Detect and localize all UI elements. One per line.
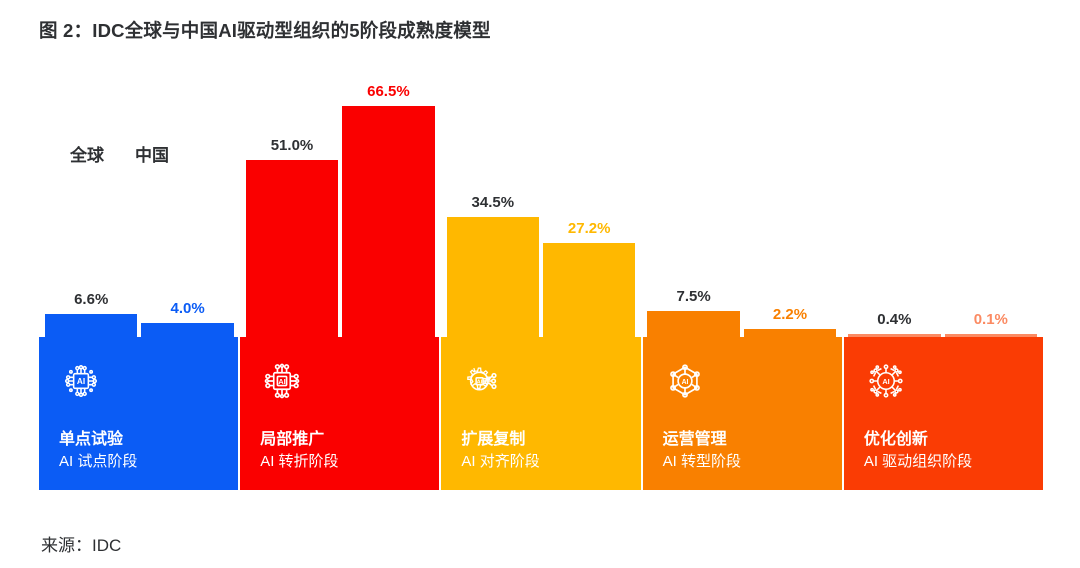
bar-slot-global: 7.5% <box>647 60 739 337</box>
stage-title: 运营管理 <box>663 425 727 449</box>
ai-hexagon-network-icon: AI <box>663 359 707 403</box>
bar-slot-china: 4.0% <box>141 60 233 337</box>
bar-slot-global: 6.6% <box>45 60 137 337</box>
stage-cell-2[interactable]: AI 局部推广AI 转折阶段 <box>238 337 439 490</box>
bar-value-label-global: 7.5% <box>676 289 710 311</box>
stage-band: AI 单点试验AI 试点阶段 AI 局部推广AI 转折阶段 AI <box>39 337 1043 490</box>
bar-value-label-global: 6.6% <box>74 292 108 314</box>
bar-group: 51.0%66.5% <box>240 60 441 337</box>
ai-chip-dots-icon: AI <box>59 359 103 403</box>
source-note: 来源：IDC <box>41 531 121 556</box>
bar-value-label-china: 66.5% <box>367 84 410 106</box>
stage-title: 优化创新 <box>864 425 928 449</box>
bar-slot-global: 0.4% <box>848 60 940 337</box>
ai-chip-circuit-icon: AI <box>260 359 304 403</box>
bar-slot-china: 66.5% <box>342 60 434 337</box>
stage-subtitle: AI 试点阶段 <box>59 450 137 471</box>
bar-china[interactable] <box>141 323 233 337</box>
stage-cell-4[interactable]: AI 运营管理AI 转型阶段 <box>641 337 842 490</box>
ai-circular-circuit-icon: AI <box>864 359 908 403</box>
bar-value-label-china: 2.2% <box>773 307 807 329</box>
bar-global[interactable] <box>447 217 539 337</box>
bar-china[interactable] <box>744 329 836 337</box>
bar-group: 6.6%4.0% <box>39 60 240 337</box>
bar-global[interactable] <box>45 314 137 337</box>
bar-slot-china: 27.2% <box>543 60 635 337</box>
svg-text:AI: AI <box>279 377 286 386</box>
svg-text:AI: AI <box>882 377 889 386</box>
stage-cell-1[interactable]: AI 单点试验AI 试点阶段 <box>39 337 238 490</box>
bar-global[interactable] <box>647 311 739 337</box>
ai-gear-chip-icon: AI <box>461 359 505 403</box>
bar-global[interactable] <box>246 160 338 337</box>
stage-subtitle: AI 驱动组织阶段 <box>864 450 972 471</box>
stage-title: 局部推广 <box>260 425 324 449</box>
stage-subtitle: AI 转折阶段 <box>260 450 338 471</box>
bar-value-label-china: 4.0% <box>171 301 205 323</box>
bar-group: 0.4%0.1% <box>842 60 1043 337</box>
svg-text:AI: AI <box>681 379 688 386</box>
stage-subtitle: AI 对齐阶段 <box>461 450 539 471</box>
bar-chart-plot: 6.6%4.0%51.0%66.5%34.5%27.2%7.5%2.2%0.4%… <box>39 60 1043 337</box>
bar-slot-global: 34.5% <box>447 60 539 337</box>
svg-text:AI: AI <box>77 377 85 386</box>
bar-china[interactable] <box>342 106 434 337</box>
bar-china[interactable] <box>543 243 635 337</box>
bar-value-label-global: 34.5% <box>472 195 515 217</box>
stage-cell-3[interactable]: AI 扩展复制AI 对齐阶段 <box>439 337 640 490</box>
bar-group: 34.5%27.2% <box>441 60 642 337</box>
stage-cell-5[interactable]: AI 优化创新AI 驱动组织阶段 <box>842 337 1043 490</box>
bar-value-label-global: 0.4% <box>877 312 911 334</box>
bar-slot-china: 2.2% <box>744 60 836 337</box>
bar-value-label-global: 51.0% <box>271 138 314 160</box>
bar-slot-china: 0.1% <box>945 60 1037 337</box>
page-title: 图 2：IDC全球与中国AI驱动型组织的5阶段成熟度模型 <box>39 17 491 43</box>
chart-page: 图 2：IDC全球与中国AI驱动型组织的5阶段成熟度模型 全球 中国 6.6%4… <box>0 0 1080 568</box>
stage-title: 扩展复制 <box>461 425 525 449</box>
bar-group: 7.5%2.2% <box>641 60 842 337</box>
stage-title: 单点试验 <box>59 425 123 449</box>
bar-value-label-china: 27.2% <box>568 221 611 243</box>
bar-value-label-china: 0.1% <box>974 312 1008 334</box>
svg-text:AI: AI <box>477 379 483 385</box>
bar-slot-global: 51.0% <box>246 60 338 337</box>
stage-subtitle: AI 转型阶段 <box>663 450 741 471</box>
